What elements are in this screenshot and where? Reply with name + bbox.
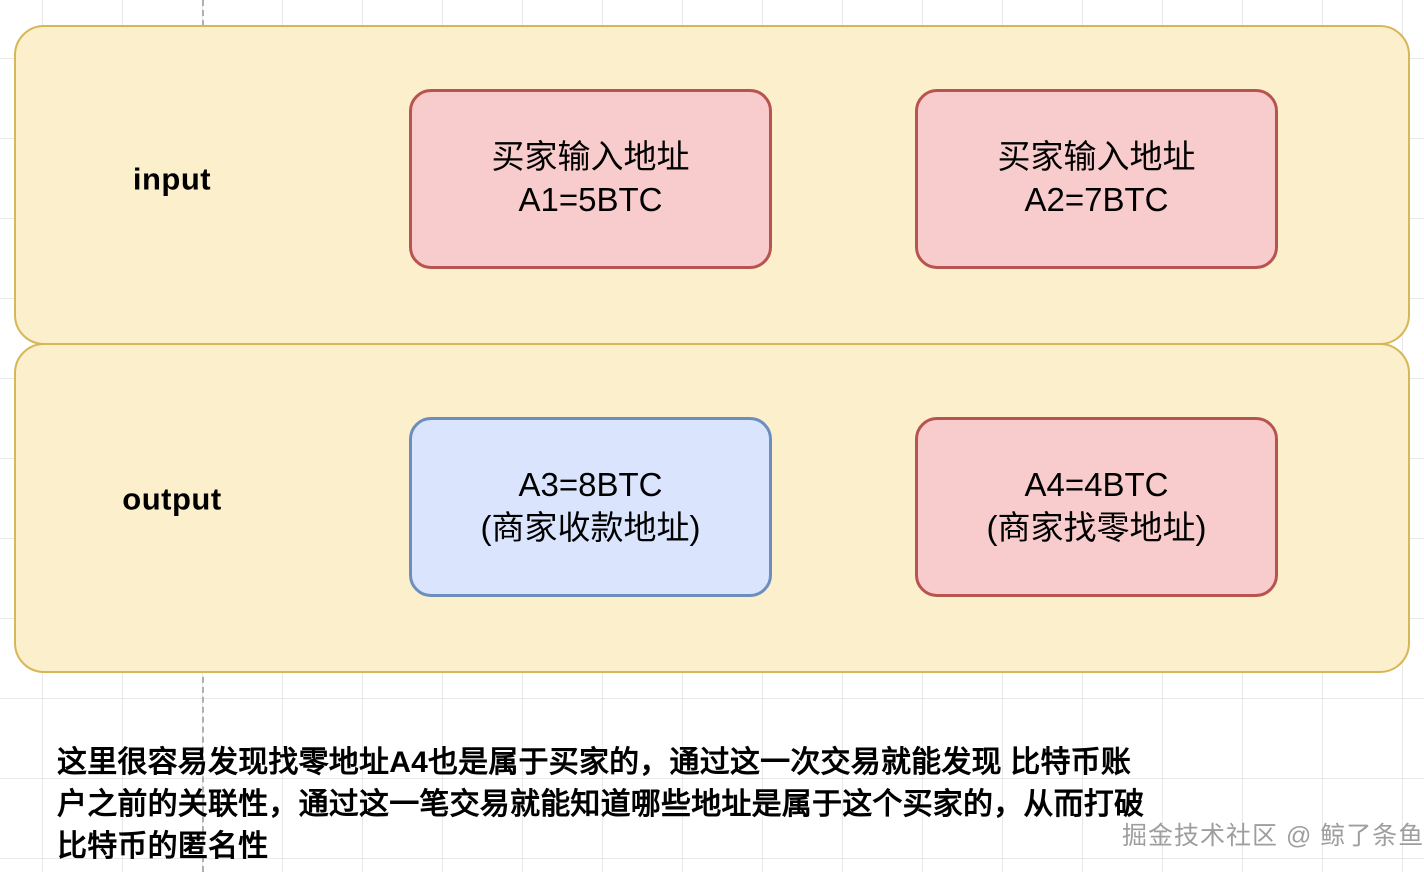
output-address-box-a4[interactable]: A4=4BTC (商家找零地址) <box>915 417 1278 597</box>
input-address-box-a2[interactable]: 买家输入地址 A2=7BTC <box>915 89 1278 269</box>
output-address-a4-note: (商家找零地址) <box>987 507 1207 550</box>
input-address-box-a1[interactable]: 买家输入地址 A1=5BTC <box>409 89 772 269</box>
input-address-a1-title: 买家输入地址 <box>492 136 690 179</box>
input-address-a2-title: 买家输入地址 <box>998 136 1196 179</box>
output-lane-label: output <box>122 484 221 515</box>
input-address-a2-amount: A2=7BTC <box>1025 179 1169 222</box>
caption-line-1: 这里很容易发现找零地址A4也是属于买家的，通过这一次交易就能发现 比特币账 <box>57 742 1367 784</box>
output-address-a3-amount: A3=8BTC <box>519 464 663 507</box>
input-address-a1-amount: A1=5BTC <box>519 179 663 222</box>
caption-line-2: 户之前的关联性，通过这一笔交易就能知道哪些地址是属于这个买家的，从而打破 <box>57 784 1367 826</box>
output-address-a4-amount: A4=4BTC <box>1025 464 1169 507</box>
watermark: 掘金技术社区 @ 鲸了条鱼 <box>1122 824 1424 849</box>
output-address-a3-note: (商家收款地址) <box>481 507 701 550</box>
output-address-box-a3[interactable]: A3=8BTC (商家收款地址) <box>409 417 772 597</box>
input-lane-label: input <box>133 164 211 195</box>
